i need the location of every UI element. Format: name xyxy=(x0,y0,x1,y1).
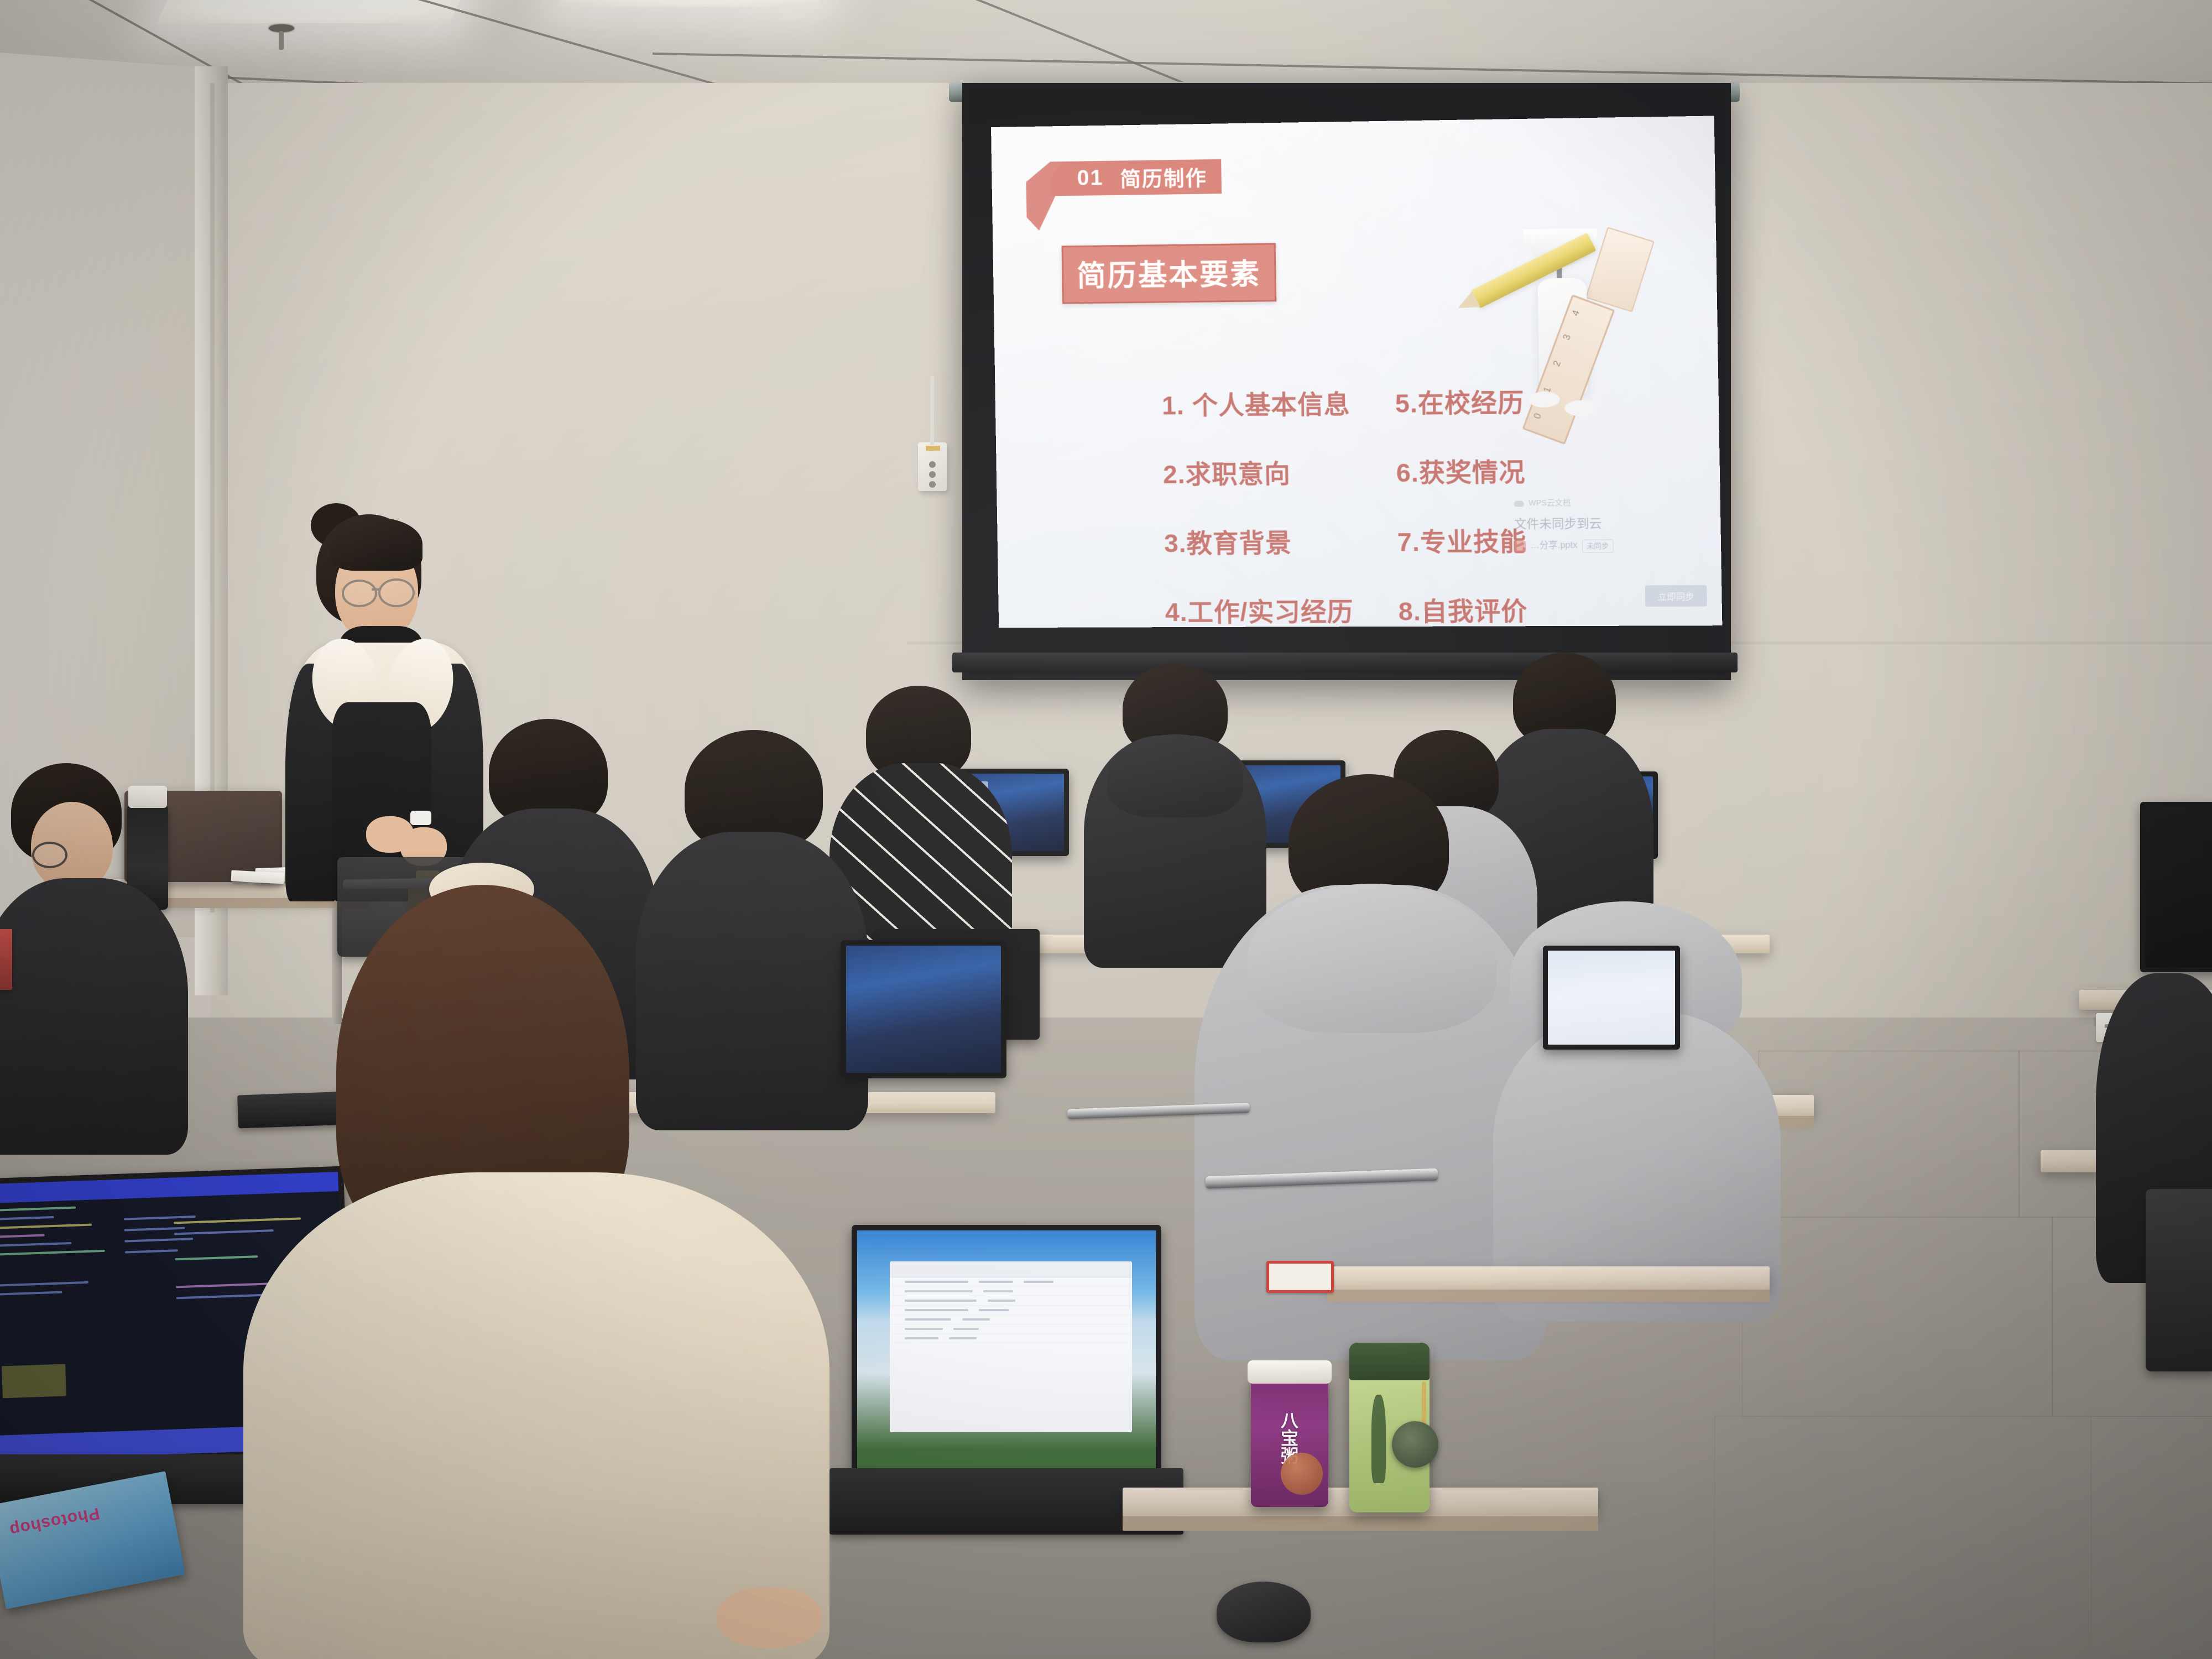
code-line xyxy=(0,1207,76,1212)
slide-list-item: 1. 个人基本信息 xyxy=(1161,384,1364,422)
thermos-graphic xyxy=(1371,1395,1386,1483)
switch-label-strip xyxy=(926,446,940,451)
computer-mouse[interactable] xyxy=(1217,1582,1311,1642)
student-glasses-left xyxy=(0,763,188,1150)
fire-sprinkler-icon xyxy=(269,24,294,32)
recessed-light-panel xyxy=(557,0,830,7)
file-date-cell xyxy=(953,1328,979,1330)
slide-list-item: 2.求职意向 xyxy=(1162,453,1365,491)
wps-app-label: WPS云文档 xyxy=(1528,497,1571,509)
monitor-screen xyxy=(2145,807,2212,967)
column-header xyxy=(979,1281,1013,1283)
code-tree-item xyxy=(124,1215,196,1220)
presentation-clicker[interactable] xyxy=(410,811,431,825)
student-dark-jacket xyxy=(0,878,188,1155)
code-line xyxy=(0,1224,92,1229)
powerpoint-file-icon xyxy=(1515,541,1526,552)
switch-button-stop[interactable] xyxy=(929,471,936,478)
wps-file-row: …分享.pptx 未同步 xyxy=(1515,539,1680,554)
code-line xyxy=(0,1291,62,1296)
green-thermos[interactable] xyxy=(1349,1344,1430,1512)
student-laptop[interactable] xyxy=(841,940,1006,1078)
projector-screen-wall-switch[interactable] xyxy=(918,442,947,491)
column-header xyxy=(1024,1281,1053,1283)
slide-chapter-ribbon: 01 简历制作 xyxy=(1050,159,1222,196)
switch-button-up[interactable] xyxy=(929,461,936,468)
ruler-mark: 4 xyxy=(1570,309,1583,317)
can-lid xyxy=(1248,1360,1332,1384)
column-header xyxy=(905,1281,968,1283)
slide-list-item: 6.获奖情况 xyxy=(1396,451,1589,489)
file-date-cell xyxy=(962,1318,990,1321)
terminal-output-block xyxy=(2,1364,66,1398)
table-row[interactable] xyxy=(890,1334,1131,1343)
keychain-chain xyxy=(1422,1381,1426,1425)
eyeglasses-right-lens xyxy=(378,578,415,607)
wps-cloud-sync-toast: WPS云文档 文件未同步到云 …分享.pptx 未同步 xyxy=(1514,497,1679,554)
code-line xyxy=(0,1242,71,1247)
floor-tile xyxy=(1742,1217,2053,1417)
file-name-cell xyxy=(905,1300,977,1302)
file-list-window[interactable] xyxy=(890,1261,1131,1433)
canned-porridge[interactable]: 八宝粥 xyxy=(1251,1377,1328,1507)
code-tree-item xyxy=(124,1227,185,1232)
pom-pom-keychain xyxy=(1392,1421,1438,1468)
slide-list-item: 8.自我评价 xyxy=(1398,591,1592,628)
monitor-screen xyxy=(1548,951,1675,1045)
book-title: Photoshop xyxy=(8,1504,101,1540)
file-name-cell xyxy=(905,1328,943,1330)
file-date-cell xyxy=(983,1290,1013,1292)
thermos-cap xyxy=(1349,1343,1430,1380)
floor-tile xyxy=(1714,1416,2091,1659)
table-row[interactable] xyxy=(890,1306,1131,1315)
code-line xyxy=(0,1216,54,1220)
slide-section-heading: 简历基本要素 xyxy=(1062,243,1277,304)
hoodie-hood xyxy=(1248,884,1496,1033)
laptop-screen xyxy=(846,946,1001,1073)
switch-cord xyxy=(930,376,934,445)
code-line xyxy=(0,1250,105,1256)
wall-seam xyxy=(210,83,215,912)
slide-illustration-icon: 0 1 2 3 4 xyxy=(1470,192,1656,419)
table-row[interactable] xyxy=(890,1324,1131,1334)
code-line xyxy=(0,1234,45,1238)
wps-toast-header: WPS云文档 xyxy=(1514,497,1679,510)
file-name-cell xyxy=(905,1290,973,1292)
recessed-light-panel xyxy=(156,0,468,23)
student-desk-right xyxy=(1327,1266,1770,1291)
table-row[interactable] xyxy=(890,1287,1131,1296)
window-title-bar[interactable] xyxy=(890,1261,1131,1277)
illustration-foot xyxy=(1564,400,1597,416)
table-row[interactable] xyxy=(890,1296,1131,1306)
file-date-cell xyxy=(979,1309,1009,1311)
wps-sync-button[interactable]: 立即同步 xyxy=(1645,585,1707,607)
student-hand xyxy=(717,1587,822,1648)
instructor-hair-front xyxy=(331,518,422,571)
student-front-cream-jacket xyxy=(243,863,830,1659)
file-date-cell xyxy=(949,1337,977,1339)
wps-file-status: 未同步 xyxy=(1582,539,1614,553)
table-header-row xyxy=(890,1277,1131,1287)
floor-tile xyxy=(1759,1051,2020,1218)
slide-chapter-number: 01 xyxy=(1077,166,1103,191)
laptop-lid xyxy=(852,1225,1161,1474)
classroom-photo: 01 简历制作 简历基本要素 1. 个人基本信息 5.在校经历 2.求职意向 6… xyxy=(0,0,2212,1659)
code-tree-item xyxy=(124,1238,193,1242)
student-monitor[interactable] xyxy=(2140,802,2212,972)
student-chair[interactable] xyxy=(2146,1189,2212,1371)
student-monitor[interactable] xyxy=(1543,946,1680,1050)
ruler-mark: 0 xyxy=(1531,411,1544,420)
eyeglasses-bridge xyxy=(372,588,380,591)
slide-list-item: 3.教育背景 xyxy=(1164,522,1366,560)
student-cream-jacket xyxy=(243,1172,830,1659)
slide-chapter-title: 简历制作 xyxy=(1120,161,1207,192)
presentation-slide: 01 简历制作 简历基本要素 1. 个人基本信息 5.在校经历 2.求职意向 6… xyxy=(991,116,1722,628)
seat-label-tag xyxy=(1266,1261,1334,1293)
front-center-laptop[interactable] xyxy=(852,1225,1161,1474)
wps-sync-message: 文件未同步到云 xyxy=(1514,514,1679,534)
table-row[interactable] xyxy=(890,1315,1131,1324)
student-lanyard xyxy=(0,929,12,990)
laptop-lid xyxy=(841,940,1006,1078)
slide-list-item: 4.工作/实习经历 xyxy=(1165,591,1367,628)
cloud-icon xyxy=(1514,500,1524,507)
desk-edge xyxy=(1123,1516,1598,1531)
ruler-mark: 3 xyxy=(1561,333,1573,342)
can-food-illustration xyxy=(1281,1453,1323,1495)
desk-edge xyxy=(1327,1290,1770,1302)
file-date-cell xyxy=(988,1300,1015,1302)
desktop-wallpaper xyxy=(857,1230,1156,1468)
file-name-cell xyxy=(905,1337,939,1339)
eyeglasses-lens xyxy=(32,842,67,868)
eyeglasses-left-lens xyxy=(342,580,377,607)
file-name-cell xyxy=(905,1309,968,1311)
switch-button-down[interactable] xyxy=(929,481,936,488)
code-tree-item xyxy=(125,1249,178,1253)
ruler-mark: 2 xyxy=(1551,359,1564,368)
code-line xyxy=(0,1281,88,1287)
wps-file-name: …分享.pptx xyxy=(1530,539,1577,554)
file-name-cell xyxy=(905,1318,952,1321)
